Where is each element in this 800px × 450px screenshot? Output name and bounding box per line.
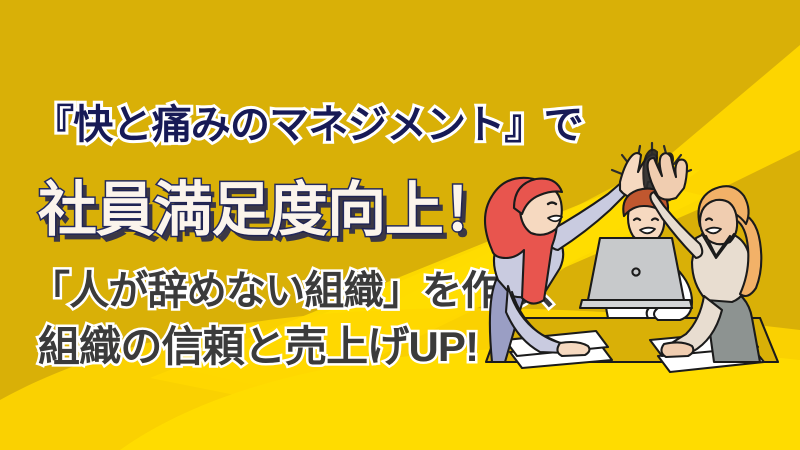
laptop	[580, 238, 692, 308]
three-coworkers-high-five-illustration	[0, 0, 800, 450]
promotional-banner: 『快と痛みのマネジメント』で 社員満足度向上！ 「人が辞めない組織」を作り、 組…	[0, 0, 800, 450]
